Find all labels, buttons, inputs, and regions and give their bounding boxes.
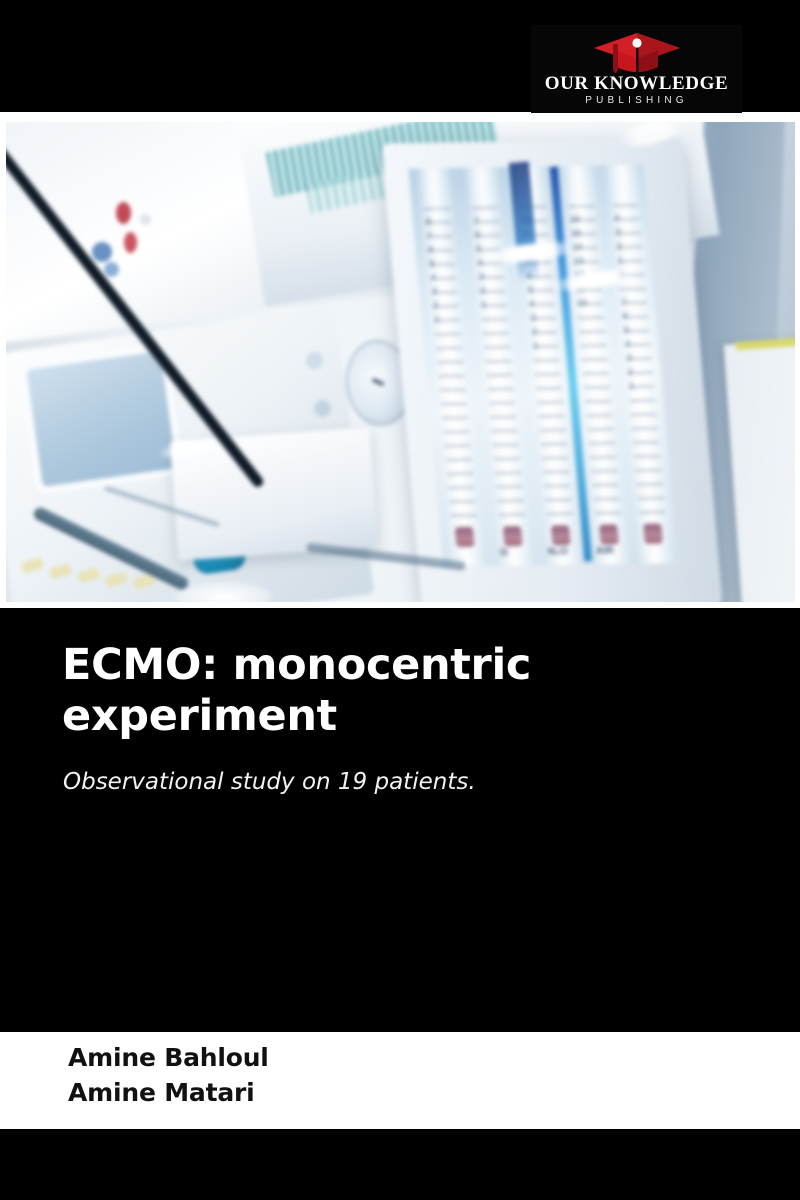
photo-monitor-screen — [26, 351, 176, 487]
book-title: ECMO: monocentric experiment — [62, 640, 702, 741]
photo-flowmeter-float — [599, 524, 619, 544]
photo-blue-indicator — [92, 242, 112, 262]
cover-photo: 87654321 7654321 O 10987654321 N₂O — [6, 122, 795, 602]
publisher-tagline: PUBLISHING — [531, 95, 742, 106]
graduation-cap-icon — [592, 31, 682, 73]
photo-red-indicator — [116, 202, 131, 224]
author-name: Amine Matari — [68, 1078, 255, 1107]
bottom-black-band — [0, 1129, 800, 1200]
photo-grey-indicator — [140, 214, 151, 225]
book-cover: 87654321 7654321 O 10987654321 N₂O — [0, 0, 800, 1200]
publisher-logo: OUR KNOWLEDGE PUBLISHING — [531, 25, 742, 113]
photo-flowmeter-gas-label: AIR — [596, 545, 614, 556]
photo-flowmeter-float — [455, 527, 475, 547]
author-name: Amine Bahloul — [68, 1043, 269, 1072]
publisher-name: OUR KNOWLEDGE — [531, 73, 742, 95]
photo-flowmeter-float — [503, 526, 523, 546]
photo-flowmeter-window: 87654321 7654321 O 10987654321 N₂O — [408, 165, 677, 568]
photo-blue-indicator — [104, 262, 119, 277]
photo-flowmeter-float — [551, 525, 571, 545]
photo-flowmeter-gas-label: O — [500, 547, 509, 558]
photo-red-indicator — [124, 232, 137, 253]
photo-flowmeter-float — [643, 524, 663, 544]
book-subtitle: Observational study on 19 patients. — [63, 768, 723, 798]
photo-flowmeter-gas-label: N₂O — [548, 546, 568, 557]
cover-photo-scene: 87654321 7654321 O 10987654321 N₂O — [6, 122, 795, 602]
